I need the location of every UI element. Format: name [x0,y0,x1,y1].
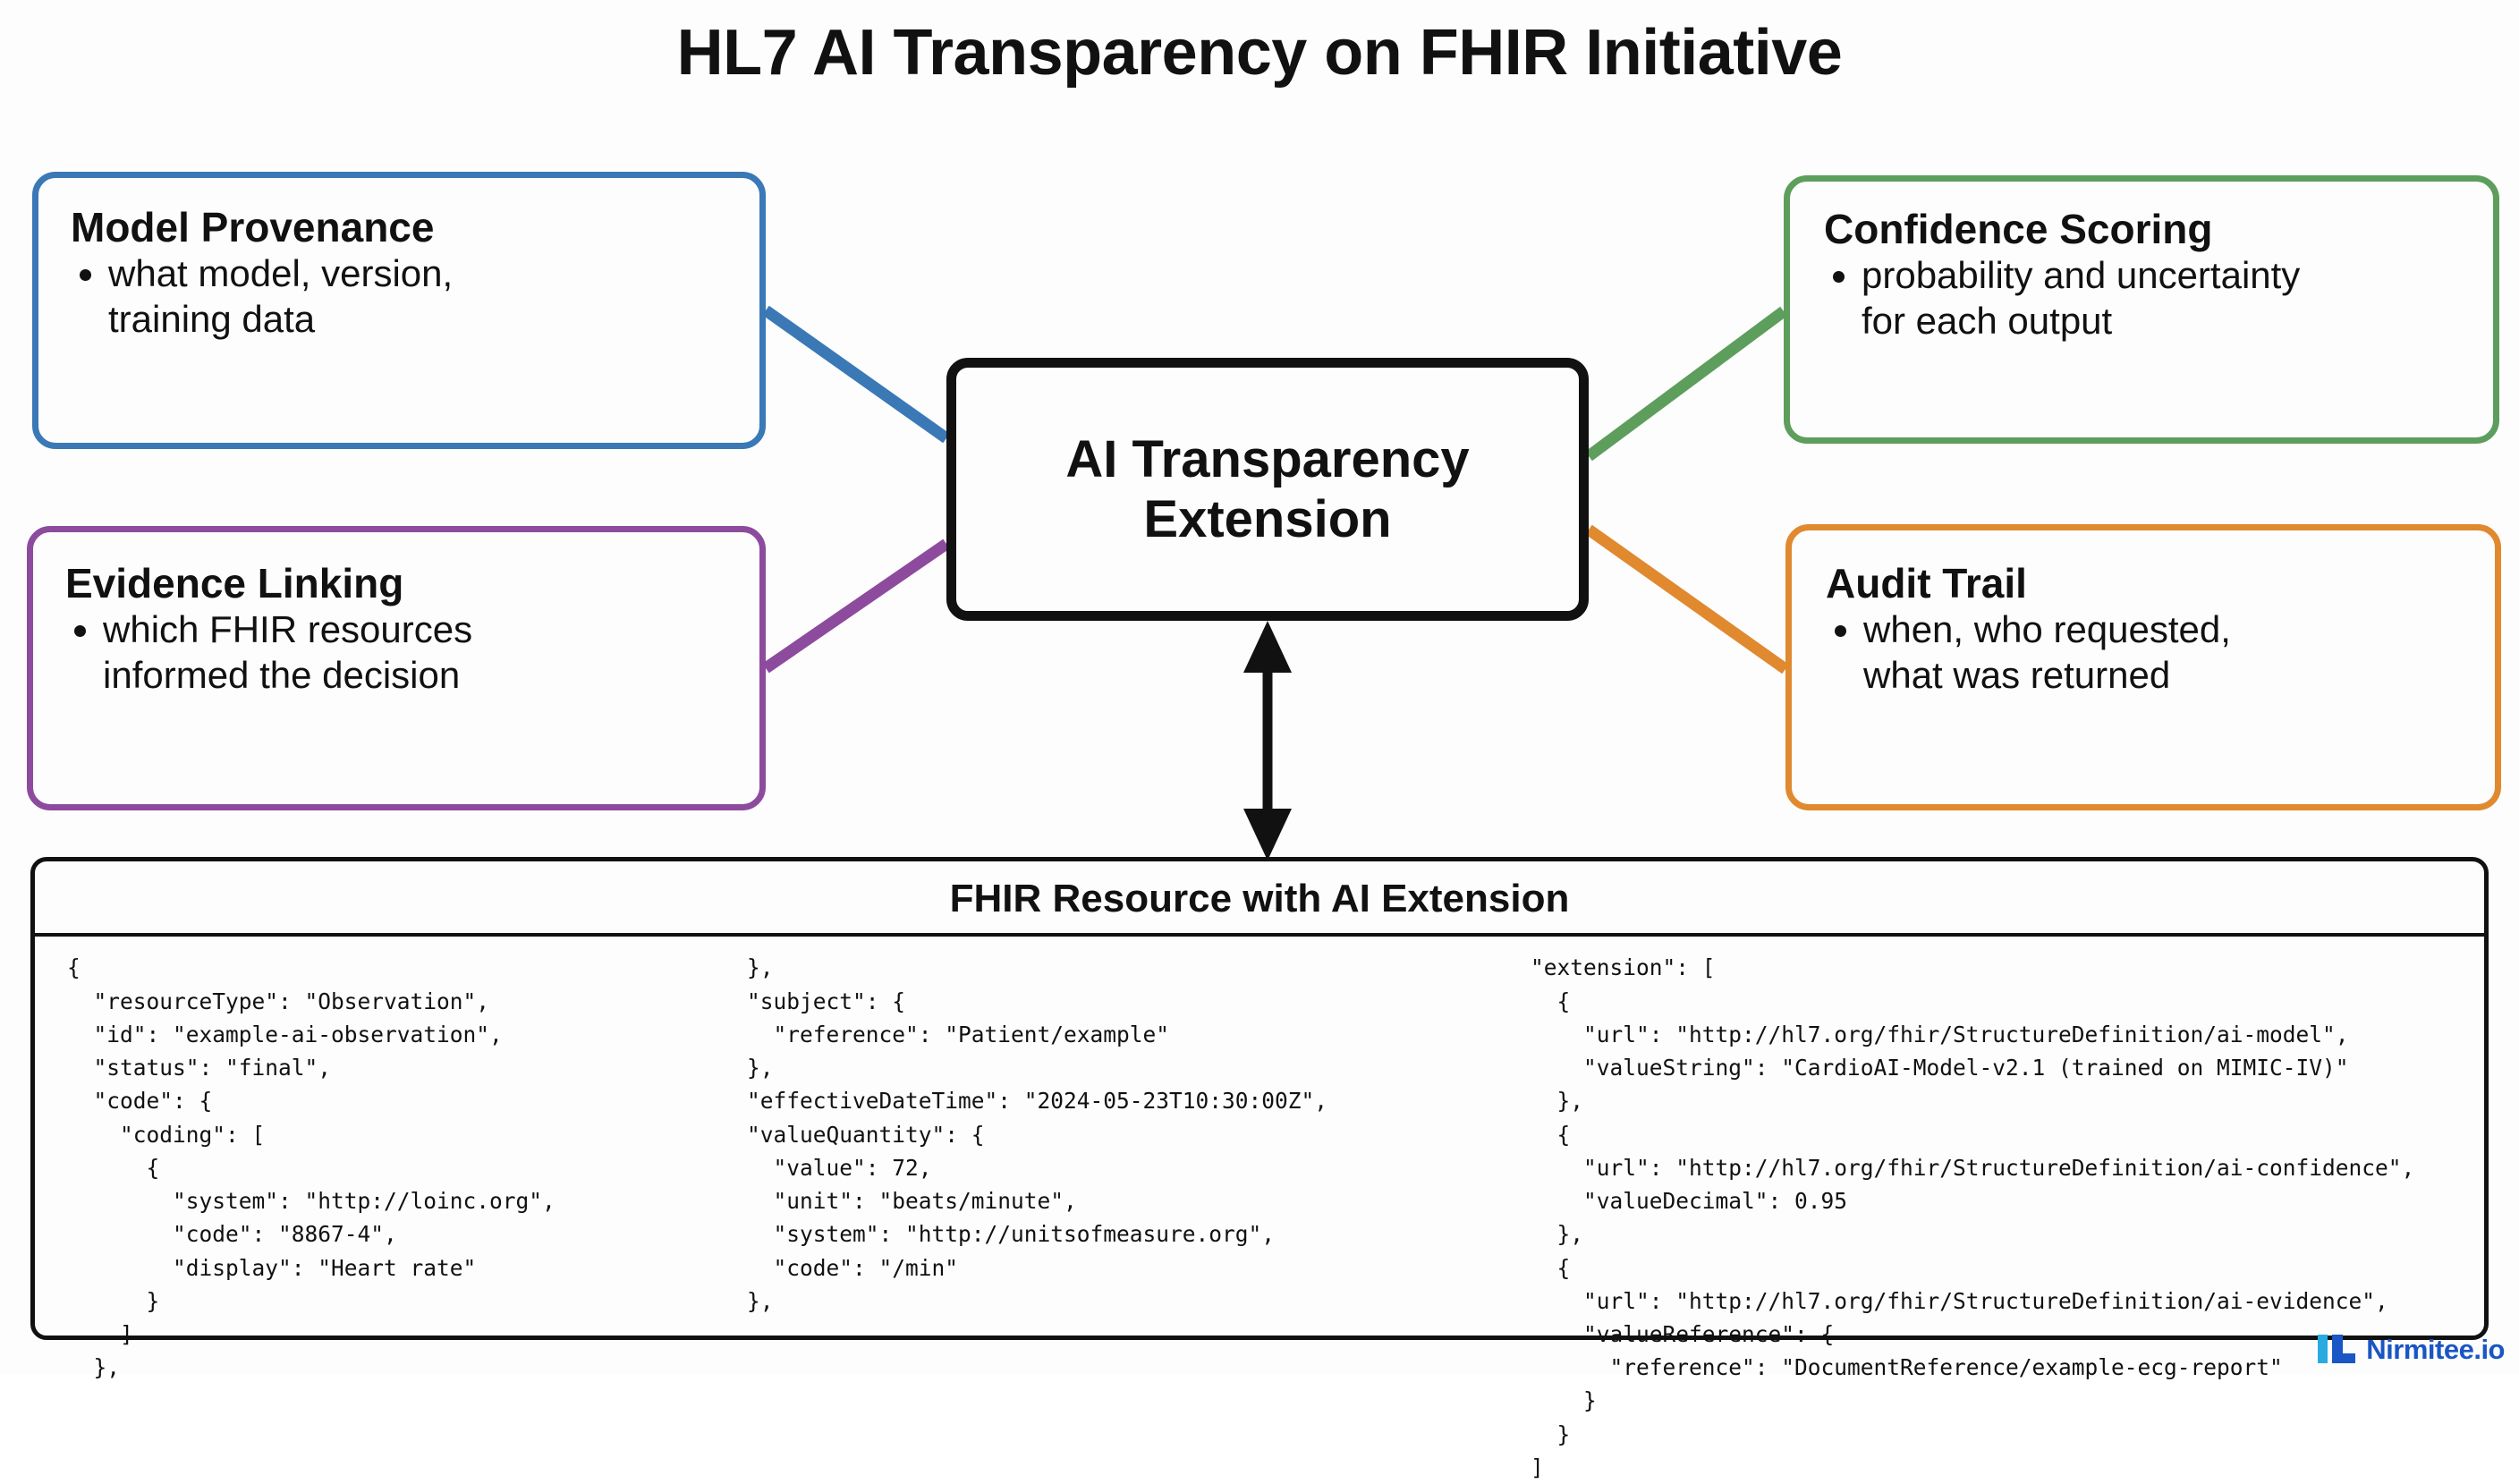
bullet-list-model-provenance: what model, version, training data [71,250,736,342]
connector-confidence-scoring [1589,311,1784,456]
page-title: HL7 AI Transparency on FHIR Initiative [0,16,2519,89]
bullet-list-evidence-linking: which FHIR resources informed the decisi… [65,606,736,698]
node-evidence-linking[interactable]: Evidence Linking which FHIR resources in… [27,526,766,810]
list-item: what model, version, training data [71,250,736,342]
list-item: probability and uncertainty for each out… [1824,252,2475,343]
node-title-evidence-linking: Evidence Linking [65,561,736,606]
bullet-list-confidence-scoring: probability and uncertainty for each out… [1824,252,2475,343]
bullet-text: which FHIR resources informed the decisi… [103,608,472,696]
json-columns: { "resourceType": "Observation", "id": "… [35,937,2484,1484]
json-column-3: "extension": [ { "url": "http://hl7.org/… [1520,951,2477,1484]
list-item: which FHIR resources informed the decisi… [65,606,736,698]
bullet-dot-icon [1835,625,1846,637]
connector-audit-trail [1589,530,1785,669]
json-panel-title: FHIR Resource with AI Extension [35,861,2484,920]
connector-model-provenance [766,310,946,438]
bullet-text: probability and uncertainty for each out… [1862,254,2300,342]
node-model-provenance[interactable]: Model Provenance what model, version, tr… [32,172,766,449]
node-ai-transparency-extension[interactable]: AI Transparency Extension [946,358,1589,621]
diagram-canvas: HL7 AI Transparency on FHIR Initiative M… [0,0,2519,1374]
node-confidence-scoring[interactable]: Confidence Scoring probability and uncer… [1784,175,2499,444]
node-title-model-provenance: Model Provenance [71,205,736,250]
bullet-list-audit-trail: when, who requested, what was returned [1826,606,2477,698]
bullet-dot-icon [80,269,91,281]
watermark-label: Nirmitee.io [2366,1336,2505,1363]
bullet-dot-icon [1833,271,1845,283]
bullet-text: what model, version, training data [108,252,453,340]
json-column-2: }, "subject": { "reference": "Patient/ex… [733,951,1520,1318]
list-item: when, who requested, what was returned [1826,606,2477,698]
connector-evidence-linking [766,544,946,668]
fhir-resource-panel: FHIR Resource with AI Extension { "resou… [30,857,2489,1340]
node-title-center: AI Transparency Extension [1065,429,1469,550]
node-title-audit-trail: Audit Trail [1826,561,2477,606]
json-column-1: { "resourceType": "Observation", "id": "… [35,951,733,1384]
watermark: Nirmitee.io [2316,1331,2505,1367]
bullet-text: when, who requested, what was returned [1863,608,2231,696]
nirmitee-logo-icon [2316,1331,2357,1367]
bullet-dot-icon [74,625,86,637]
connector-center-to-json-arrow [1243,621,1292,861]
node-audit-trail[interactable]: Audit Trail when, who requested, what wa… [1785,524,2501,810]
node-title-confidence-scoring: Confidence Scoring [1824,207,2475,252]
